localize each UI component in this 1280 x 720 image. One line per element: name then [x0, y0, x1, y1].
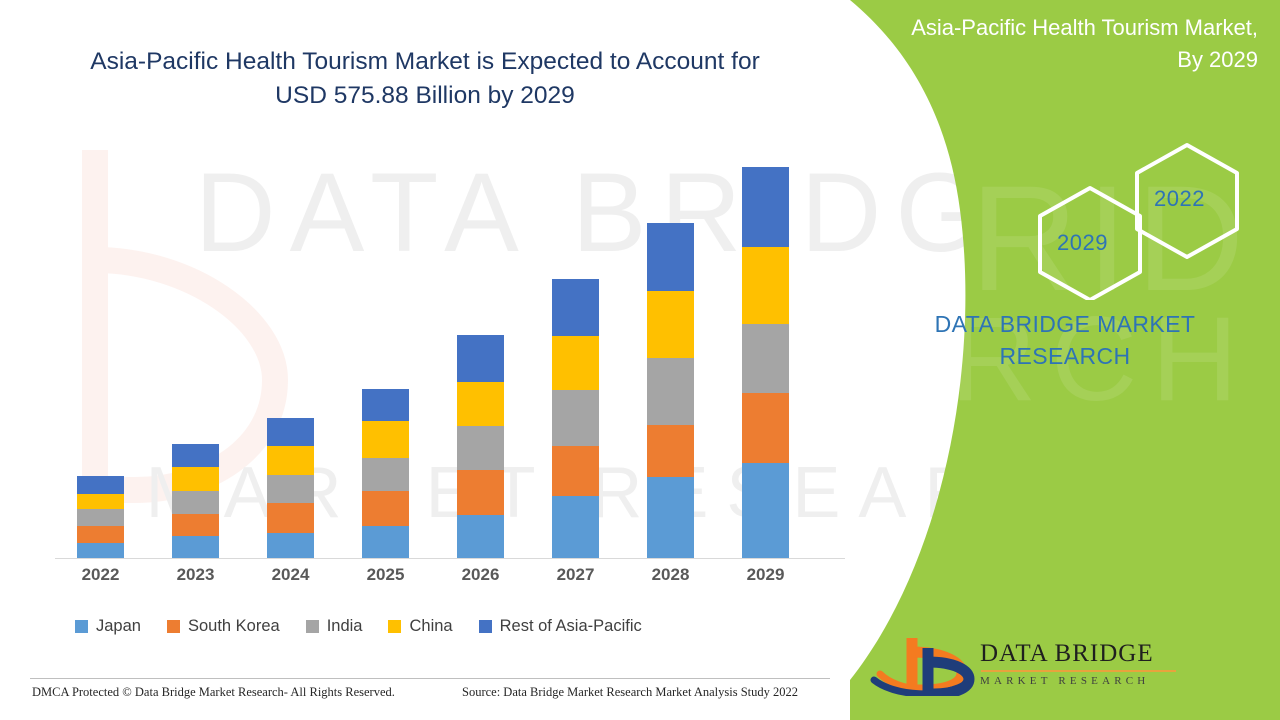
x-axis-label-2026: 2026	[433, 565, 528, 585]
logo-main-text: DATA BRIDGE	[980, 640, 1210, 668]
legend-item-rest-of-asia-pacific[interactable]: Rest of Asia-Pacific	[479, 617, 642, 636]
copyright-text: DMCA Protected © Data Bridge Market Rese…	[32, 685, 395, 700]
x-axis-label-2023: 2023	[148, 565, 243, 585]
data-bridge-wordmark: DATA BRIDGE MARKET RESEARCH	[980, 640, 1210, 687]
x-axis-label-2025: 2025	[338, 565, 433, 585]
bar-segment-india	[552, 390, 599, 447]
bar-2029	[742, 167, 789, 558]
bar-segment-india	[267, 475, 314, 503]
bar-segment-rest-of-asia-pacific	[362, 389, 409, 421]
panel-brand-line2: RESEARCH	[880, 340, 1250, 372]
panel-title: Asia-Pacific Health Tourism Market, By 2…	[868, 12, 1258, 76]
bar-segment-south-korea	[647, 425, 694, 477]
stacked-bar-chart: 20222023202420252026202720282029	[55, 150, 845, 620]
legend-swatch-icon	[388, 620, 401, 633]
logo-sub-text: MARKET RESEARCH	[980, 675, 1210, 687]
bar-2022	[77, 476, 124, 558]
bar-segment-rest-of-asia-pacific	[172, 444, 219, 467]
bar-segment-china	[742, 247, 789, 325]
hexagon-label-2029: 2029	[1057, 230, 1108, 256]
page-title: Asia-Pacific Health Tourism Market is Ex…	[55, 45, 795, 113]
bar-segment-south-korea	[267, 503, 314, 533]
bar-segment-india	[172, 491, 219, 514]
bar-segment-japan	[172, 536, 219, 558]
bar-segment-china	[77, 494, 124, 509]
legend-item-south-korea[interactable]: South Korea	[167, 617, 280, 636]
page-title-line2: USD 575.88 Billion by 2029	[55, 79, 795, 113]
x-axis-label-2024: 2024	[243, 565, 338, 585]
bar-segment-south-korea	[362, 491, 409, 527]
x-axis-label-2028: 2028	[623, 565, 718, 585]
bar-segment-south-korea	[457, 470, 504, 515]
panel-title-line1: Asia-Pacific Health Tourism Market,	[868, 12, 1258, 44]
bar-segment-india	[77, 509, 124, 527]
legend-label: China	[409, 617, 452, 636]
bar-segment-rest-of-asia-pacific	[77, 476, 124, 494]
bar-2024	[267, 418, 314, 558]
bar-segment-japan	[362, 526, 409, 558]
brand-panel: RID RCH Asia-Pacific Health Tourism Mark…	[850, 0, 1280, 720]
hexagon-group: 2022 2029	[970, 140, 1270, 300]
bar-segment-india	[647, 358, 694, 425]
bar-segment-japan	[742, 463, 789, 558]
legend-label: Rest of Asia-Pacific	[500, 617, 642, 636]
x-axis-label-2027: 2027	[528, 565, 623, 585]
panel-title-line2: By 2029	[868, 44, 1258, 76]
bar-segment-japan	[647, 477, 694, 558]
bar-segment-japan	[267, 533, 314, 558]
source-text: Source: Data Bridge Market Research Mark…	[462, 685, 798, 700]
bar-segment-india	[362, 458, 409, 491]
bar-segment-japan	[457, 515, 504, 558]
legend-label: India	[327, 617, 363, 636]
legend-swatch-icon	[75, 620, 88, 633]
legend-item-japan[interactable]: Japan	[75, 617, 141, 636]
bar-segment-rest-of-asia-pacific	[457, 335, 504, 382]
bar-2023	[172, 444, 219, 558]
bar-segment-rest-of-asia-pacific	[267, 418, 314, 446]
bar-segment-japan	[552, 496, 599, 558]
hexagon-shapes-icon	[970, 140, 1270, 300]
chart-plot-area	[55, 150, 845, 558]
bar-segment-south-korea	[77, 526, 124, 543]
legend-label: Japan	[96, 617, 141, 636]
page-title-line1: Asia-Pacific Health Tourism Market is Ex…	[55, 45, 795, 79]
legend-label: South Korea	[188, 617, 280, 636]
bar-segment-south-korea	[742, 393, 789, 464]
bar-segment-south-korea	[552, 446, 599, 496]
footer-divider	[30, 678, 830, 679]
legend-item-china[interactable]: China	[388, 617, 452, 636]
bar-segment-china	[552, 336, 599, 390]
bar-segment-china	[172, 467, 219, 490]
legend-item-india[interactable]: India	[306, 617, 363, 636]
bar-segment-rest-of-asia-pacific	[647, 223, 694, 290]
x-axis-label-2029: 2029	[718, 565, 813, 585]
hexagon-label-2022: 2022	[1154, 186, 1205, 212]
x-axis-tick-labels: 20222023202420252026202720282029	[55, 565, 845, 595]
bar-segment-china	[267, 446, 314, 474]
bar-segment-india	[457, 426, 504, 469]
legend-swatch-icon	[306, 620, 319, 633]
bar-segment-china	[457, 382, 504, 426]
bar-2025	[362, 389, 409, 558]
panel-brand-text: DATA BRIDGE MARKET RESEARCH	[880, 308, 1250, 372]
bar-segment-india	[742, 324, 789, 392]
x-axis-label-2022: 2022	[53, 565, 148, 585]
bar-segment-rest-of-asia-pacific	[742, 167, 789, 247]
legend-swatch-icon	[479, 620, 492, 633]
infographic-canvas: DATA BRIDGE MARKET RESEARCH Asia-Pacific…	[0, 0, 1280, 720]
panel-brand-line1: DATA BRIDGE MARKET	[880, 308, 1250, 340]
logo-rule	[981, 670, 1176, 672]
bar-segment-china	[647, 291, 694, 358]
footer: DMCA Protected © Data Bridge Market Rese…	[0, 678, 860, 706]
legend-swatch-icon	[167, 620, 180, 633]
bar-2028	[647, 223, 694, 558]
chart-legend: JapanSouth KoreaIndiaChinaRest of Asia-P…	[75, 617, 668, 636]
bar-2026	[457, 335, 504, 558]
x-axis-line	[55, 558, 845, 559]
bar-segment-china	[362, 421, 409, 458]
bar-segment-south-korea	[172, 514, 219, 536]
bar-segment-japan	[77, 543, 124, 558]
bar-segment-rest-of-asia-pacific	[552, 279, 599, 336]
bar-2027	[552, 279, 599, 558]
